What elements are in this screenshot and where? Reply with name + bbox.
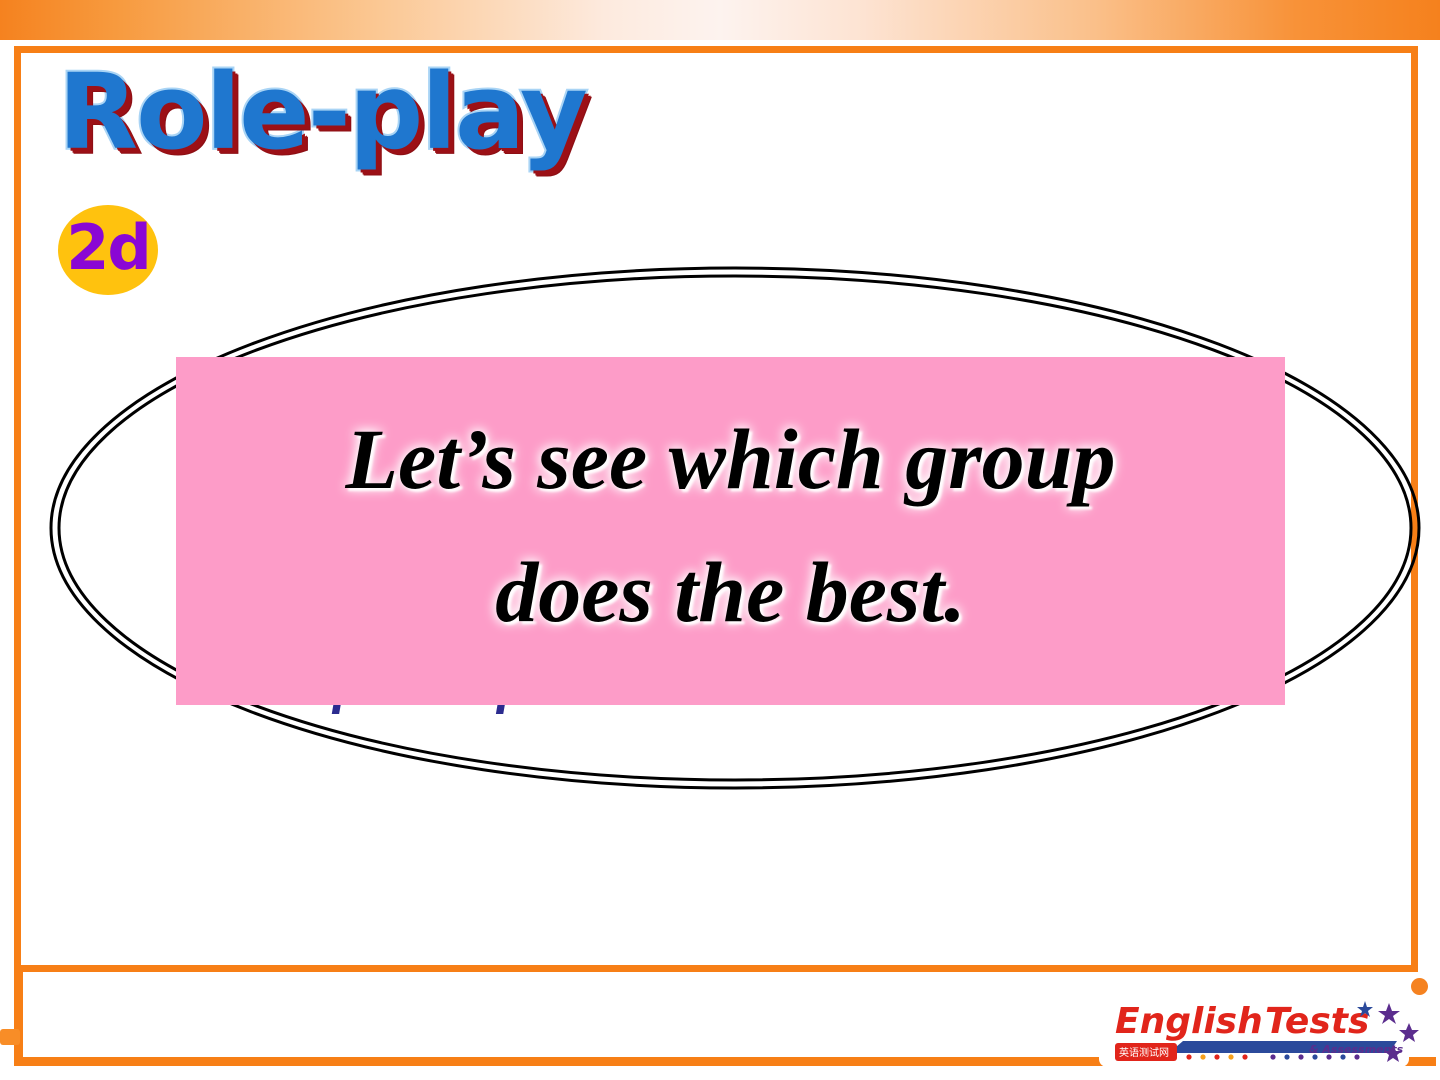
callout-line-1: Let’s see which group [345, 411, 1115, 507]
svg-text:English: English [1115, 1001, 1263, 1042]
svg-text:英语测试网: 英语测试网 [1119, 1046, 1169, 1059]
top-gradient-band [0, 0, 1440, 40]
callout-text: Let’s see which group does the best. [345, 393, 1115, 660]
left-frame-stub [14, 965, 23, 1065]
callout-box: Let’s see which group does the best. [176, 357, 1285, 705]
svg-text:Tests: Tests [1265, 1001, 1369, 1042]
english-tests-logo: English Tests & Assessments 英语测试网 [1097, 985, 1427, 1077]
orange-accent-dot-left [0, 1029, 20, 1045]
callout-line-2: does the best. [495, 544, 966, 640]
page-title: Role-play [58, 60, 586, 164]
slide-canvas: Role-play 2d in front of the class. Let’… [0, 0, 1440, 1080]
